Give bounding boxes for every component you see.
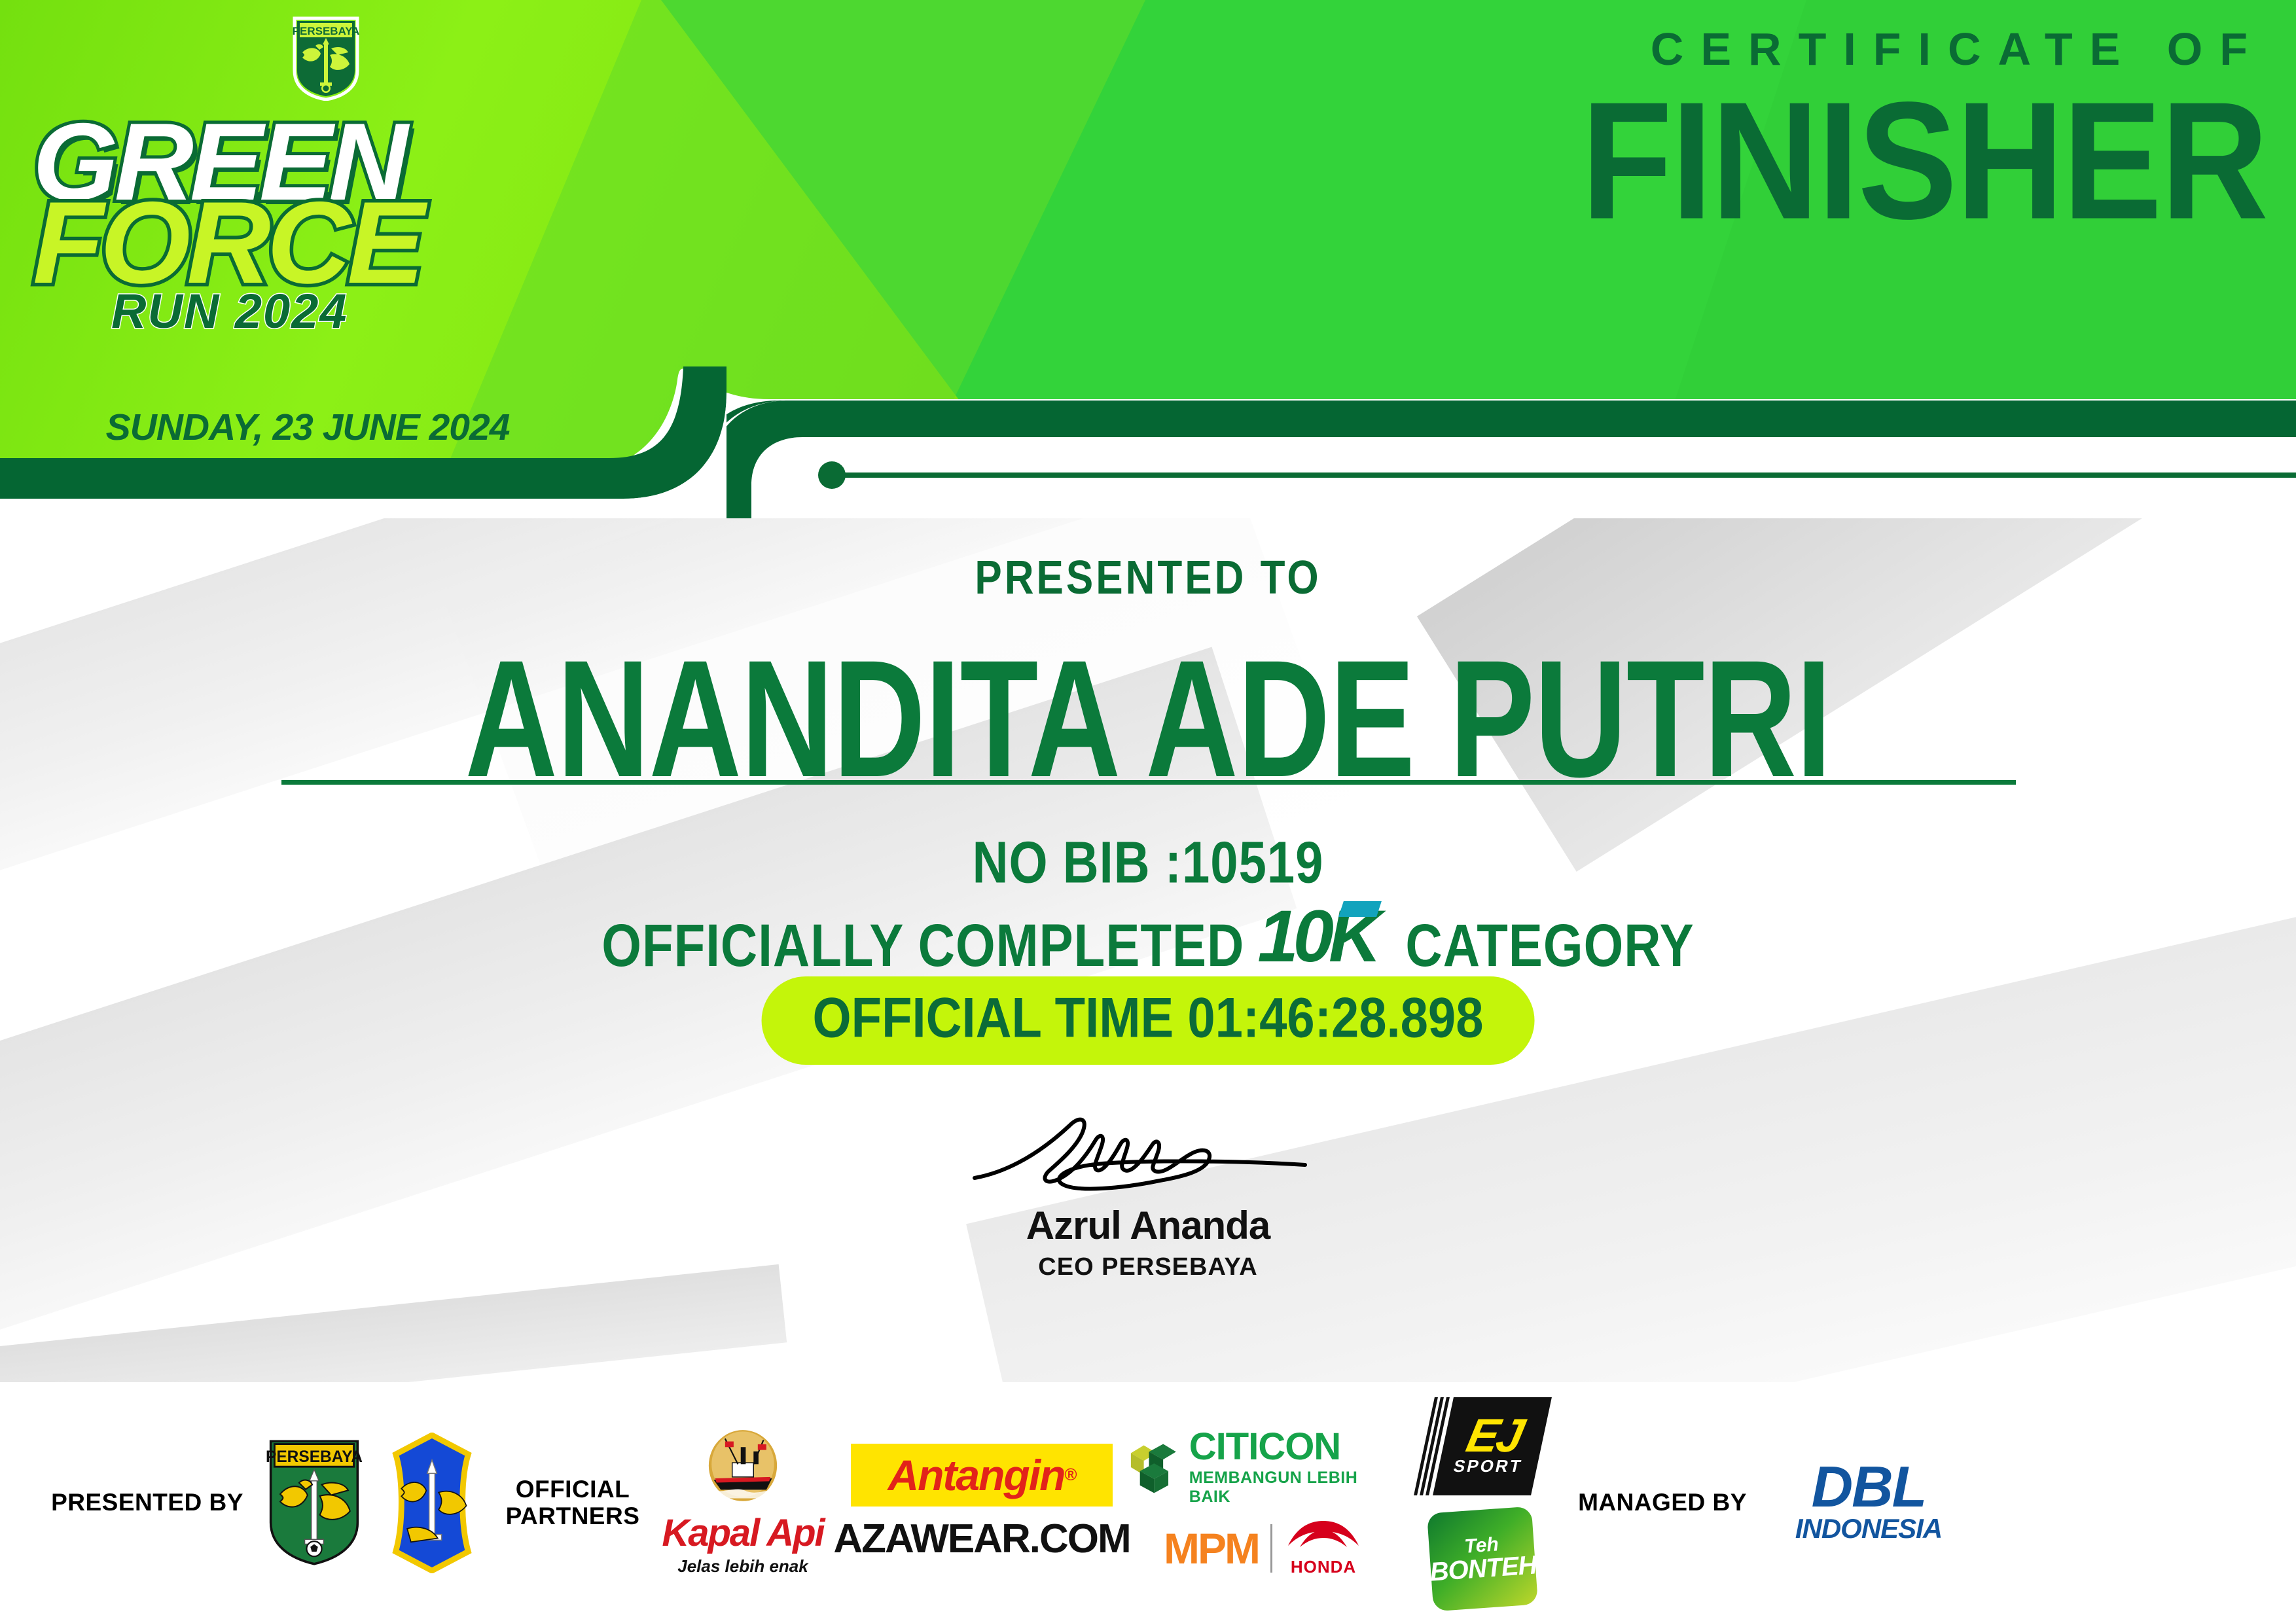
category-row: OFFICIALLY COMPLETED 10K CATEGORY bbox=[0, 906, 2296, 984]
sponsor-logo-antangin-azawear: Antangin® AZAWEAR.COM bbox=[838, 1444, 1126, 1562]
bonteh-main-text: BONTEH bbox=[1429, 1552, 1537, 1585]
official-time-badge: OFFICIAL TIME 01:46:28.898 bbox=[762, 976, 1535, 1065]
svg-text:PERSEBAYA: PERSEBAYA bbox=[293, 25, 360, 37]
dbl-text: DBL bbox=[1795, 1461, 1942, 1512]
logo-line-force: FORCE bbox=[33, 189, 569, 296]
sponsor-logo-ej-bonteh: EJ SPORT Teh BONTEH bbox=[1401, 1397, 1564, 1608]
kapal-api-ship-icon bbox=[704, 1429, 782, 1511]
teh-bonteh-badge: Teh BONTEH bbox=[1427, 1507, 1538, 1612]
antangin-registered-mark: ® bbox=[1064, 1465, 1075, 1485]
certificate-title-block: CERTIFICATE OF FINISHER bbox=[1581, 26, 2267, 224]
category-prefix: OFFICIALLY COMPLETED bbox=[601, 910, 1244, 980]
citicon-tagline: MEMBANGUN LEBIH BAIK bbox=[1189, 1469, 1401, 1507]
mpm-honda-lockup: MPM HONDA bbox=[1164, 1520, 1363, 1577]
citicon-cube-icon bbox=[1126, 1438, 1180, 1496]
ten-k-accent-slash bbox=[1338, 901, 1382, 917]
presented-by-label: PRESENTED BY bbox=[39, 1489, 255, 1516]
sponsor-logo-surabaya-city bbox=[373, 1433, 491, 1573]
signature-block: Azrul Ananda CEO PERSEBAYA bbox=[899, 1107, 1397, 1281]
mpm-divider bbox=[1270, 1524, 1272, 1573]
recipient-name: ANANDITA ADE PUTRI bbox=[0, 623, 2296, 815]
accent-line bbox=[840, 473, 2296, 478]
signature-icon bbox=[939, 1107, 1357, 1205]
azawear-text: AZAWEAR.COM bbox=[833, 1516, 1130, 1562]
green-force-run-logo: GREEN FORCE RUN 2024 bbox=[33, 111, 569, 406]
event-date: SUNDAY, 23 JUNE 2024 bbox=[39, 406, 576, 449]
managed-by-label: MANAGED BY bbox=[1564, 1489, 1761, 1516]
bib-number: NO BIB :10519 bbox=[0, 829, 2296, 897]
sponsor-logo-citicon-mpm: CITICON MEMBANGUN LEBIH BAIK MPM HONDA bbox=[1126, 1428, 1401, 1577]
category-suffix: CATEGORY bbox=[1405, 910, 1694, 980]
antangin-text: Antangin bbox=[888, 1450, 1064, 1500]
presented-to-label: PRESENTED TO bbox=[0, 551, 2296, 605]
ej-letters: EJ bbox=[1463, 1416, 1525, 1456]
certificate-body: PRESENTED TO ANANDITA ADE PUTRI NO BIB :… bbox=[0, 518, 2296, 1382]
mpm-text: MPM bbox=[1164, 1527, 1259, 1570]
kapal-api-tagline: Jelas lebih enak bbox=[662, 1556, 823, 1577]
dbl-indonesia-text: INDONESIA bbox=[1795, 1513, 1942, 1544]
antangin-badge: Antangin® bbox=[851, 1444, 1113, 1507]
citicon-lockup: CITICON MEMBANGUN LEBIH BAIK bbox=[1126, 1428, 1401, 1507]
finisher-title: FINISHER bbox=[1581, 81, 2267, 241]
kapal-api-name: Kapal Api bbox=[662, 1514, 823, 1552]
signatory-name: Azrul Ananda bbox=[899, 1203, 1397, 1248]
citicon-text: CITICON bbox=[1189, 1428, 1401, 1466]
sponsor-logo-persebaya: PERSEBAYA bbox=[255, 1434, 373, 1571]
logo-line-run: RUN 2024 bbox=[111, 289, 569, 334]
honda-wing-icon bbox=[1284, 1520, 1363, 1554]
name-underline bbox=[281, 780, 2016, 785]
persebaya-crest-icon: PERSEBAYA bbox=[292, 14, 360, 101]
certificate-canvas: PERSEBAYA GREEN FORCE bbox=[0, 0, 2296, 1623]
ej-sport-card: EJ SPORT bbox=[1433, 1397, 1552, 1495]
signatory-role: CEO PERSEBAYA bbox=[899, 1253, 1397, 1281]
official-partners-label: OFFICIAL PARTNERS bbox=[497, 1476, 648, 1530]
header-accent-rule bbox=[818, 456, 2296, 486]
svg-text:PERSEBAYA: PERSEBAYA bbox=[266, 1448, 363, 1466]
certificate-header: PERSEBAYA GREEN FORCE bbox=[0, 0, 2296, 518]
honda-text: HONDA bbox=[1284, 1557, 1363, 1577]
sponsor-logo-dbl-indonesia: DBL INDONESIA bbox=[1761, 1461, 1977, 1544]
ej-sport-lockup: EJ SPORT bbox=[1424, 1397, 1541, 1495]
official-time-text: OFFICIAL TIME 01:46:28.898 bbox=[813, 986, 1484, 1050]
ej-sport-text: SPORT bbox=[1451, 1456, 1524, 1476]
ten-k-logo-icon: 10K bbox=[1257, 906, 1392, 984]
sponsor-logo-kapal-api: Kapal Api Jelas lebih enak bbox=[648, 1429, 838, 1577]
sponsor-footer: PRESENTED BY PERSEBAYA bbox=[0, 1382, 2296, 1623]
certificate-of-label: CERTIFICATE OF bbox=[1581, 26, 2267, 72]
